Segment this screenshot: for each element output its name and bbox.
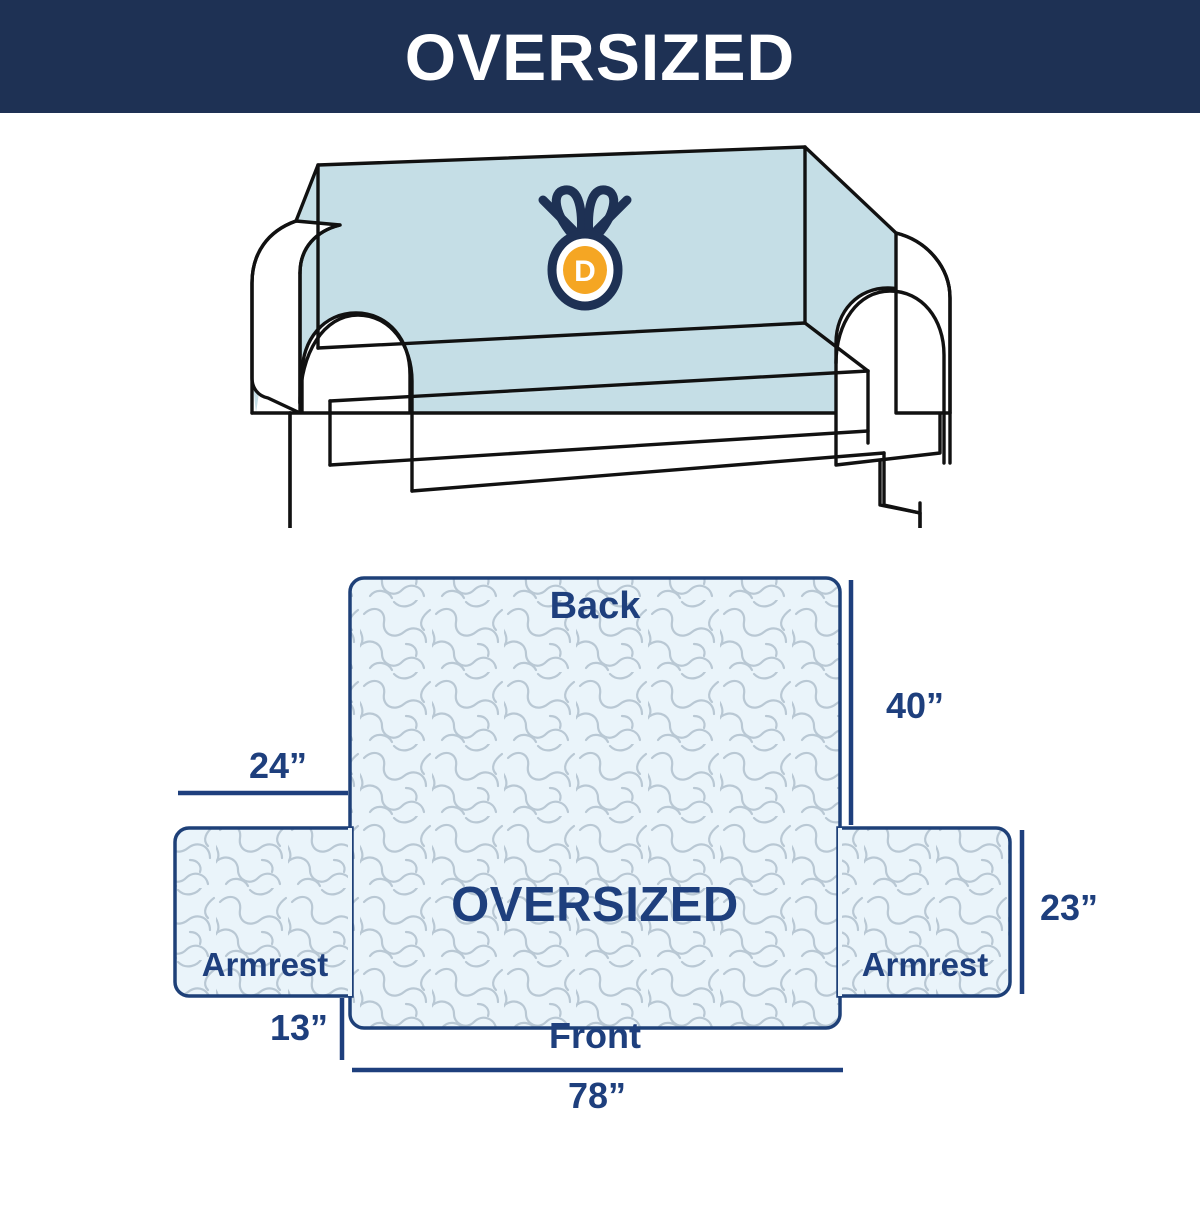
logo-letter: D	[574, 255, 596, 288]
dimension-diagram: Back OVERSIZED Armrest Armrest Front 40”…	[0, 528, 1200, 1200]
dim-label-armrest-depth: 23”	[1040, 887, 1098, 928]
cover-main-panel	[350, 578, 840, 1028]
label-armrest-left: Armrest	[202, 946, 329, 983]
dim-label-back-height: 40”	[886, 685, 944, 726]
sofa-illustration: D	[0, 113, 1200, 528]
dim-label-front-offset: 13”	[270, 1007, 328, 1048]
page-title: OVERSIZED	[405, 24, 795, 90]
sofa-base	[290, 413, 920, 528]
label-front: Front	[549, 1015, 641, 1056]
label-armrest-right: Armrest	[862, 946, 989, 983]
dim-label-total-width: 78”	[568, 1075, 626, 1116]
sofa-right-arm-base	[884, 453, 920, 513]
label-center-oversized: OVERSIZED	[451, 878, 739, 932]
sofa-right-arm	[896, 233, 950, 413]
dim-label-back-offset: 24”	[249, 745, 307, 786]
sofa-drawing: D	[0, 113, 1200, 528]
label-back: Back	[550, 585, 642, 627]
cover-flat-layout: Back OVERSIZED Armrest Armrest Front 40”…	[0, 528, 1200, 1200]
header-banner: OVERSIZED	[0, 0, 1200, 113]
